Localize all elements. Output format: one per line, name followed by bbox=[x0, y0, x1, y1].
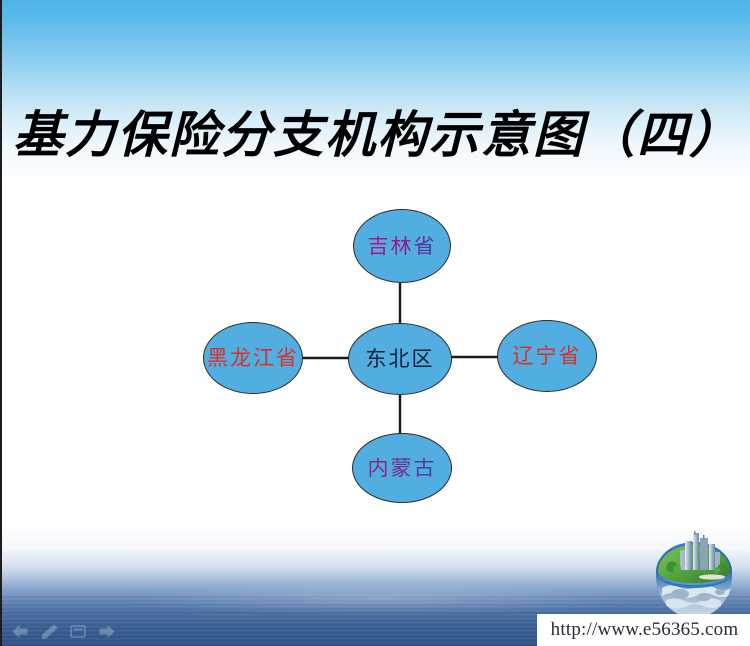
presentation-slide: 基力保险分支机构示意图（四） 吉林省 黑龙江省 东北区 辽宁省 内蒙古 bbox=[0, 0, 750, 646]
node-jilin[interactable]: 吉林省 bbox=[353, 209, 451, 283]
node-inner-mongolia[interactable]: 内蒙古 bbox=[352, 433, 452, 503]
slideshow-nav-bar[interactable] bbox=[10, 623, 117, 640]
globe-city-graphic bbox=[646, 524, 742, 628]
watermark-bar: http://www.e56365.com bbox=[537, 614, 750, 646]
node-liaoning[interactable]: 辽宁省 bbox=[497, 320, 597, 392]
node-heilongjiang-label: 黑龙江省 bbox=[207, 348, 299, 369]
node-liaoning-label: 辽宁省 bbox=[513, 346, 582, 367]
pen-icon[interactable] bbox=[39, 623, 59, 640]
node-northeast-region[interactable]: 东北区 bbox=[348, 323, 452, 395]
slide-title: 基力保险分支机构示意图（四） bbox=[2, 104, 750, 166]
slide-menu-icon[interactable] bbox=[68, 623, 88, 640]
node-heilongjiang[interactable]: 黑龙江省 bbox=[203, 322, 303, 394]
arrow-right-icon[interactable] bbox=[97, 623, 117, 640]
node-northeast-region-label: 东北区 bbox=[366, 349, 435, 370]
arrow-left-icon[interactable] bbox=[10, 623, 30, 640]
ocean-horizon-glow bbox=[122, 582, 642, 616]
sky-gradient-background bbox=[2, 0, 750, 200]
node-inner-mongolia-label: 内蒙古 bbox=[368, 458, 437, 479]
node-jilin-label: 吉林省 bbox=[368, 236, 437, 257]
globe-highlight bbox=[699, 574, 725, 579]
city-skyline bbox=[680, 531, 720, 570]
watermark-url: http://www.e56365.com bbox=[551, 619, 739, 641]
